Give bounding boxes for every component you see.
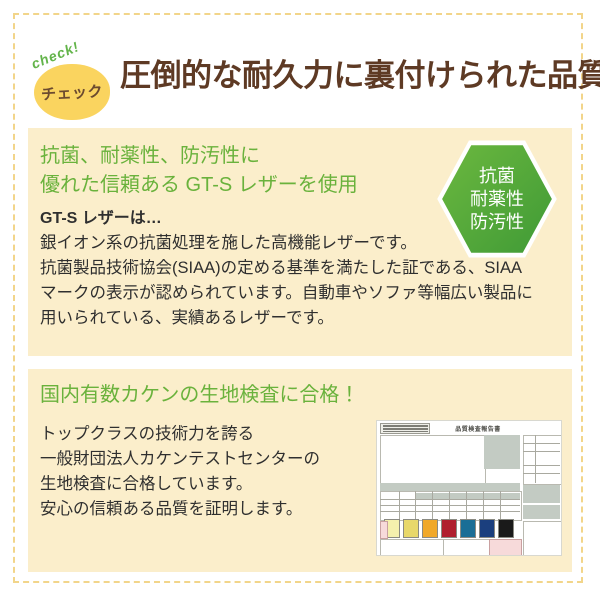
report-grey-strip (380, 483, 520, 491)
report-side-tab (380, 521, 388, 539)
inspection-report-thumbnail: 品質検査報告書 (376, 420, 562, 556)
hexagon-badge-text: 抗菌 耐薬性 防汚性 (436, 138, 558, 260)
report-info-row (523, 443, 560, 444)
leather-section-panel: 抗菌、耐薬性、防汚性に 優れた信頼ある GT-S レザーを使用 GT-S レザー… (28, 128, 572, 356)
report-photo-area (380, 435, 486, 485)
report-colour-swatch (422, 519, 438, 538)
page-header: チェック check! 圧倒的な耐久力に裏付けられた品質 (0, 22, 600, 114)
report-info-row (523, 473, 560, 474)
report-notes-box (523, 521, 562, 556)
report-footer-note-mid (443, 539, 490, 556)
report-footer-note-left (380, 539, 444, 556)
check-badge: チェック check! (34, 50, 112, 120)
report-grid-col (399, 491, 400, 519)
report-grid-row (380, 499, 520, 500)
leather-lead-text: GT-S レザーは… (40, 206, 162, 231)
report-title: 品質検査報告書 (439, 424, 517, 433)
report-grey-block-top (484, 435, 520, 469)
check-badge-label: チェック (33, 62, 112, 122)
inspection-section-heading: 国内有数カケンの生地検査に合格！ (40, 381, 359, 410)
report-colour-swatch (479, 519, 495, 538)
report-info-col (535, 435, 536, 483)
report-info-row (523, 451, 560, 452)
report-grid-col (483, 491, 484, 519)
report-colour-swatch (460, 519, 476, 538)
report-grid-col (449, 491, 450, 519)
report-colour-swatch (441, 519, 457, 538)
page-title: 圧倒的な耐久力に裏付けられた品質 (120, 50, 600, 95)
report-colour-swatch (498, 519, 514, 538)
report-info-row (523, 465, 560, 466)
report-colour-swatch (403, 519, 419, 538)
report-grid-col (500, 491, 501, 519)
inspection-body-text: トップクラスの技術力を誇る 一般財団法人カケンテストセンターの 生地検査に合格し… (40, 422, 320, 522)
inspection-section-panel: 国内有数カケンの生地検査に合格！ トップクラスの技術力を誇る 一般財団法人カケン… (28, 369, 572, 572)
report-grid-row (380, 511, 520, 512)
report-header-stamp (380, 423, 430, 434)
report-grid-col (432, 491, 433, 519)
report-grey-block-right-b (523, 505, 560, 519)
antibacterial-hexagon-badge: 抗菌 耐薬性 防汚性 (436, 138, 558, 260)
report-grid-row (380, 505, 520, 506)
leather-section-heading: 抗菌、耐薬性、防汚性に 優れた信頼ある GT-S レザーを使用 (40, 142, 358, 200)
report-grey-block-right-a (523, 485, 560, 503)
report-grid-col (415, 491, 416, 519)
report-grid-col (466, 491, 467, 519)
report-footer-note-highlight (489, 539, 522, 556)
